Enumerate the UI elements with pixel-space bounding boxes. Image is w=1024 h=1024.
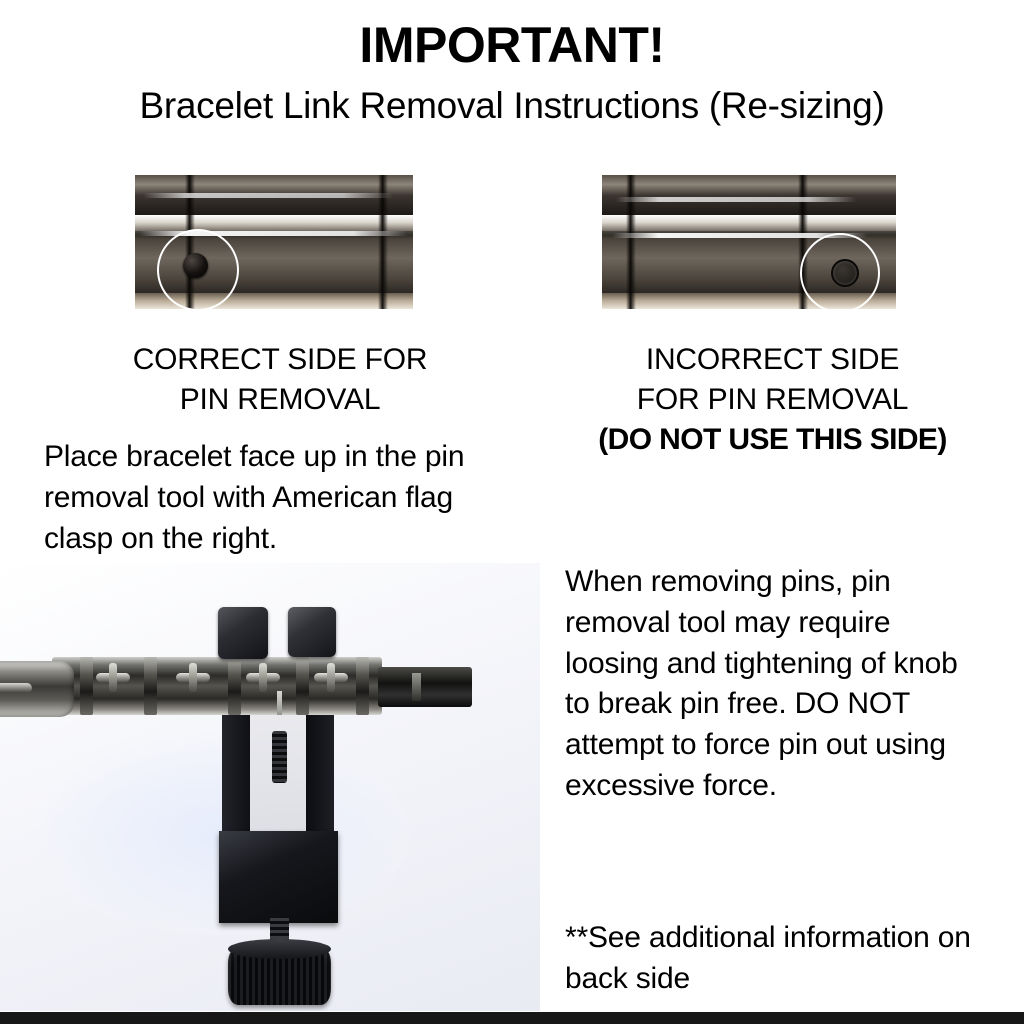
tool-jaw-left bbox=[218, 607, 268, 659]
pin-location-circle-marker bbox=[800, 233, 880, 309]
bracelet-link-separator bbox=[144, 657, 157, 715]
pin-location-circle-marker bbox=[157, 229, 239, 309]
bracelet-link-separator bbox=[80, 657, 93, 715]
bracelet-in-tool bbox=[0, 649, 476, 721]
bracelet-pin bbox=[314, 673, 348, 682]
bracelet-pin bbox=[246, 673, 280, 682]
bracelet-highlight bbox=[143, 193, 393, 198]
tool-jaw-right bbox=[288, 607, 336, 657]
tool-base-block bbox=[219, 831, 338, 923]
instruction-note-back-side: **See additional information on back sid… bbox=[565, 918, 1015, 1000]
bracelet-correct-side-photo bbox=[135, 175, 413, 309]
pin-removal-tool-photo bbox=[0, 563, 540, 1011]
caption-incorrect-line-2: FOR PIN REMOVAL bbox=[545, 380, 1000, 420]
caption-incorrect-line-1: INCORRECT SIDE bbox=[545, 340, 1000, 380]
caption-do-not-use-warning: (DO NOT USE THIS SIDE) bbox=[545, 420, 1000, 460]
bracelet-link-seam bbox=[626, 175, 636, 309]
caption-correct-line-1: CORRECT SIDE FOR bbox=[60, 340, 500, 380]
bracelet-link-separator bbox=[228, 657, 241, 715]
bracelet-link-separator bbox=[296, 657, 309, 715]
caption-incorrect-side: INCORRECT SIDE FOR PIN REMOVAL (DO NOT U… bbox=[545, 340, 1000, 460]
bracelet-highlight bbox=[616, 197, 856, 202]
bracelet-incorrect-side-photo bbox=[602, 175, 896, 309]
bracelet-clasp-tail bbox=[378, 667, 472, 707]
caption-correct-line-2: PIN REMOVAL bbox=[60, 380, 500, 420]
bracelet-clasp bbox=[0, 661, 74, 717]
bottom-edge-bar bbox=[0, 1012, 1024, 1024]
tool-upper-threaded-shaft bbox=[272, 731, 287, 783]
bracelet-pin bbox=[96, 673, 130, 682]
bracelet-pin bbox=[176, 673, 210, 682]
instruction-paragraph-placement: Place bracelet face up in the pin remova… bbox=[44, 437, 514, 559]
instruction-sheet: IMPORTANT! Bracelet Link Removal Instruc… bbox=[0, 0, 1024, 1024]
caption-correct-side: CORRECT SIDE FOR PIN REMOVAL bbox=[60, 340, 500, 420]
instruction-paragraph-pin-removal: When removing pins, pin removal tool may… bbox=[565, 562, 985, 807]
bracelet-link-separator bbox=[356, 657, 369, 715]
page-title: IMPORTANT! bbox=[0, 20, 1024, 70]
tool-adjustment-knob bbox=[228, 947, 331, 1005]
page-subtitle: Bracelet Link Removal Instructions (Re-s… bbox=[0, 86, 1024, 127]
